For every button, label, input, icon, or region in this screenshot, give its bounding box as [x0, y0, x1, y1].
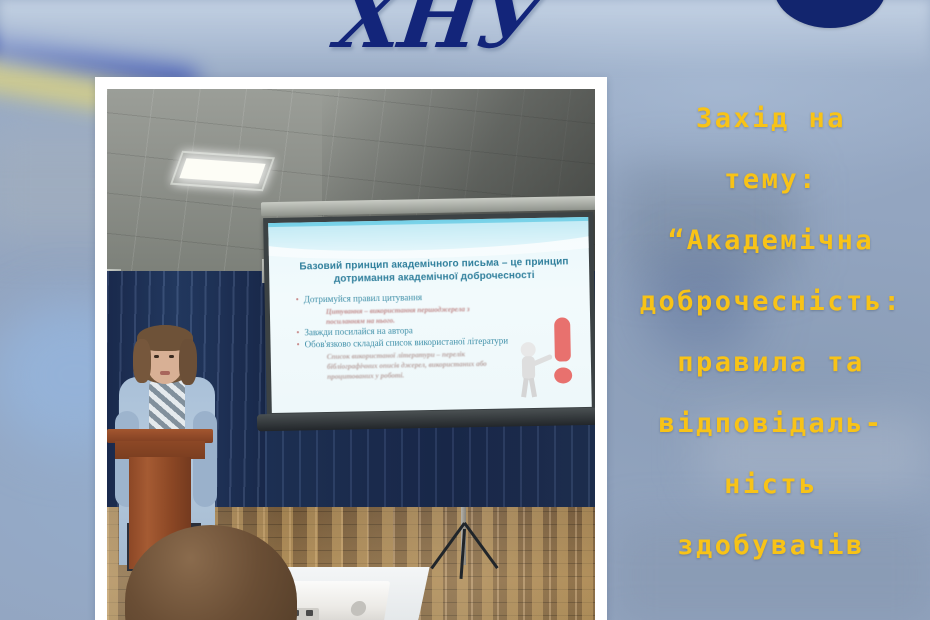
bullet-dot-icon: •	[296, 295, 299, 307]
screen-frame: Базовий принцип академічного письма – це…	[263, 212, 595, 418]
caption-line: ність	[615, 454, 927, 515]
university-logo: Х У	[774, 0, 886, 28]
caption-line: тему:	[615, 149, 927, 210]
photo-ceiling-lamp	[170, 151, 275, 192]
slide-bullet-subtext: Список використаної літератури – перелік…	[327, 348, 512, 382]
event-caption: Захід на тему: “Академічна доброчесність…	[615, 88, 927, 576]
announcement-poster: Х У ХНУ Баз	[0, 0, 930, 620]
caption-line: відповідаль-	[615, 393, 927, 454]
logo-circle	[774, 0, 886, 28]
bullet-dot-icon: •	[296, 327, 299, 339]
bullet-dot-icon: •	[296, 340, 299, 352]
slide-bullet-text: Завжди посилайся на автора	[304, 325, 412, 339]
caption-line: правила та	[615, 332, 927, 393]
event-photo: Базовий принцип академічного письма – це…	[107, 89, 595, 620]
slide-title: Базовий принцип академічного письма – це…	[281, 255, 587, 287]
caption-line: здобувачів	[615, 515, 927, 576]
presentation-slide: Базовий принцип академічного письма – це…	[268, 217, 592, 413]
institution-wordmark: ХНУ	[331, 0, 550, 67]
caption-line: Захід на	[615, 88, 927, 149]
slide-bullet-list: • Дотримуйся правил цитування Цитування …	[296, 290, 512, 382]
photo-projector-screen: Базовий принцип академічного письма – це…	[265, 215, 595, 515]
exclamation-mark-mascot-icon	[512, 315, 578, 400]
caption-line: “Академічна	[615, 210, 927, 271]
photo-card: Базовий принцип академічного письма – це…	[95, 77, 607, 620]
slide-bullet-text: Дотримуйся правил цитування	[304, 292, 422, 306]
caption-line: доброчесність:	[615, 271, 927, 332]
